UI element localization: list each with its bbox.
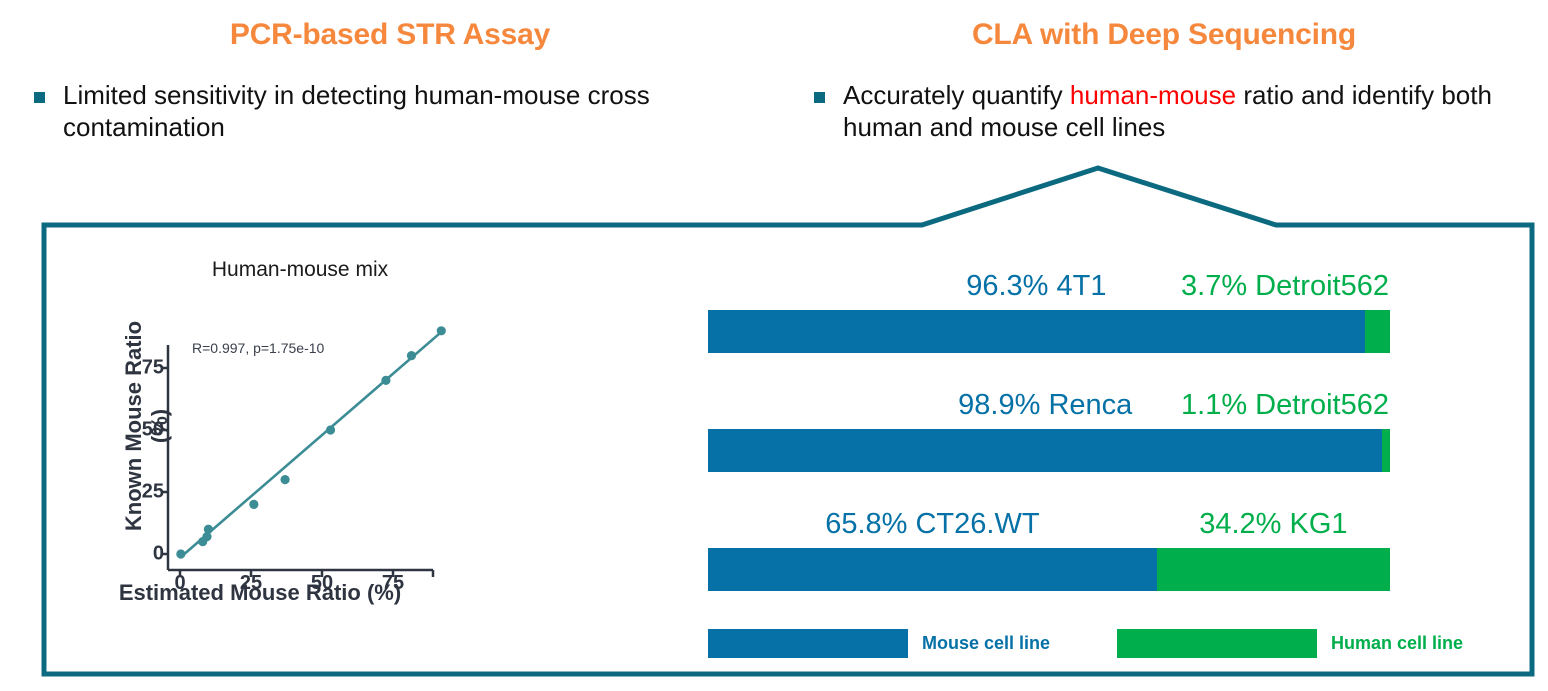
bar-segment-human xyxy=(1157,548,1390,591)
bullet-text-right-highlight: human-mouse xyxy=(1070,80,1236,110)
bar-segment-human xyxy=(1365,310,1390,353)
bar-label-row: 98.9% Renca 1.1% Detroit562 xyxy=(708,389,1390,429)
bar-row: 65.8% CT26.WT 34.2% KG1 xyxy=(708,508,1390,591)
bar-segment-mouse xyxy=(708,548,1157,591)
bar-mouse-label: 96.3% 4T1 xyxy=(966,270,1106,303)
legend-label-mouse: Mouse cell line xyxy=(922,633,1050,654)
bullet-text-right: Accurately quantify human-mouse ratio an… xyxy=(843,80,1514,143)
bar-segment-mouse xyxy=(708,310,1365,353)
legend-item-human: Human cell line xyxy=(1117,629,1463,658)
bar-track xyxy=(708,548,1390,591)
bullet-square-icon xyxy=(814,92,825,103)
bar-row: 96.3% 4T1 3.7% Detroit562 xyxy=(708,270,1390,353)
legend-swatch-mouse xyxy=(708,629,908,658)
bar-segment-human xyxy=(1382,429,1390,472)
scatter-plot: Human-mouse mix Known Mouse Ratio (%) Es… xyxy=(100,250,500,630)
bar-label-row: 96.3% 4T1 3.7% Detroit562 xyxy=(708,270,1390,310)
bar-human-label: 1.1% Detroit562 xyxy=(1181,389,1389,422)
legend-item-mouse: Mouse cell line xyxy=(708,629,1050,658)
bullet-item-right: Accurately quantify human-mouse ratio an… xyxy=(814,80,1514,143)
bullet-text-left: Limited sensitivity in detecting human-m… xyxy=(63,80,774,143)
legend-label-human: Human cell line xyxy=(1331,633,1463,654)
bar-mouse-label: 98.9% Renca xyxy=(958,389,1132,422)
legend-swatch-human xyxy=(1117,629,1317,658)
bar-track xyxy=(708,429,1390,472)
bullet-square-icon xyxy=(34,92,45,103)
bar-mouse-label: 65.8% CT26.WT xyxy=(825,508,1039,541)
bar-row: 98.9% Renca 1.1% Detroit562 xyxy=(708,389,1390,472)
bar-human-label: 3.7% Detroit562 xyxy=(1181,270,1389,303)
scatter-canvas xyxy=(100,250,500,630)
header-title-left: PCR-based STR Assay xyxy=(0,18,780,52)
bullet-item-left: Limited sensitivity in detecting human-m… xyxy=(34,80,774,143)
bullet-text-right-pre: Accurately quantify xyxy=(843,80,1070,110)
bar-track xyxy=(708,310,1390,353)
bar-segment-mouse xyxy=(708,429,1382,472)
chart-legend: Mouse cell line Human cell line xyxy=(708,629,1508,659)
bar-label-row: 65.8% CT26.WT 34.2% KG1 xyxy=(708,508,1390,548)
bar-human-label: 34.2% KG1 xyxy=(1199,508,1347,541)
header-title-right: CLA with Deep Sequencing xyxy=(780,18,1548,52)
